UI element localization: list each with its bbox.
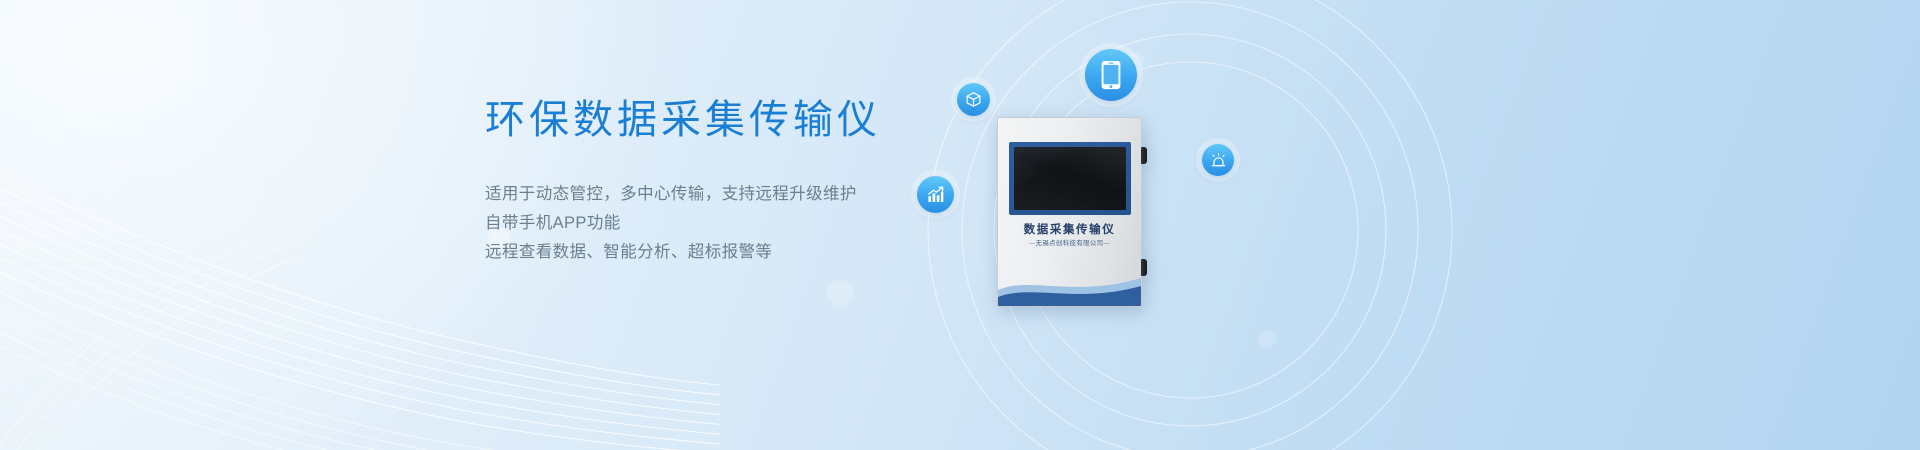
bar-chart-icon[interactable] [917, 176, 954, 213]
device-brand-label: 数据采集传输仪 [998, 221, 1141, 237]
subtitle-line-2: 自带手机APP功能 [485, 209, 1045, 238]
device-company-label: —无锡点创科技有限公司— [998, 238, 1141, 247]
box-icon[interactable] [957, 83, 990, 116]
device-knob [1141, 147, 1147, 164]
subtitle-line-1: 适用于动态管控，多中心传输，支持远程升级维护 [485, 180, 1045, 209]
product-banner: 环保数据采集传输仪 适用于动态管控，多中心传输，支持远程升级维护 自带手机APP… [0, 0, 1920, 450]
bokeh-dot [1258, 330, 1276, 348]
alarm-icon[interactable] [1202, 144, 1234, 176]
device-body: 数据采集传输仪 —无锡点创科技有限公司— [997, 117, 1142, 307]
device-wave-graphic [998, 264, 1141, 306]
subtitle-list: 适用于动态管控，多中心传输，支持远程升级维护 自带手机APP功能 远程查看数据、… [485, 180, 1045, 267]
subtitle-line-3: 远程查看数据、智能分析、超标报警等 [485, 238, 1045, 267]
smartphone-icon[interactable] [1085, 49, 1137, 101]
device-screen-bezel [1009, 142, 1131, 215]
device-knob [1141, 259, 1147, 276]
product-device-image: 数据采集传输仪 —无锡点创科技有限公司— [997, 117, 1142, 307]
banner-text-block: 环保数据采集传输仪 适用于动态管控，多中心传输，支持远程升级维护 自带手机APP… [485, 96, 1045, 267]
bokeh-dot [827, 280, 853, 306]
device-screen [1014, 147, 1126, 210]
